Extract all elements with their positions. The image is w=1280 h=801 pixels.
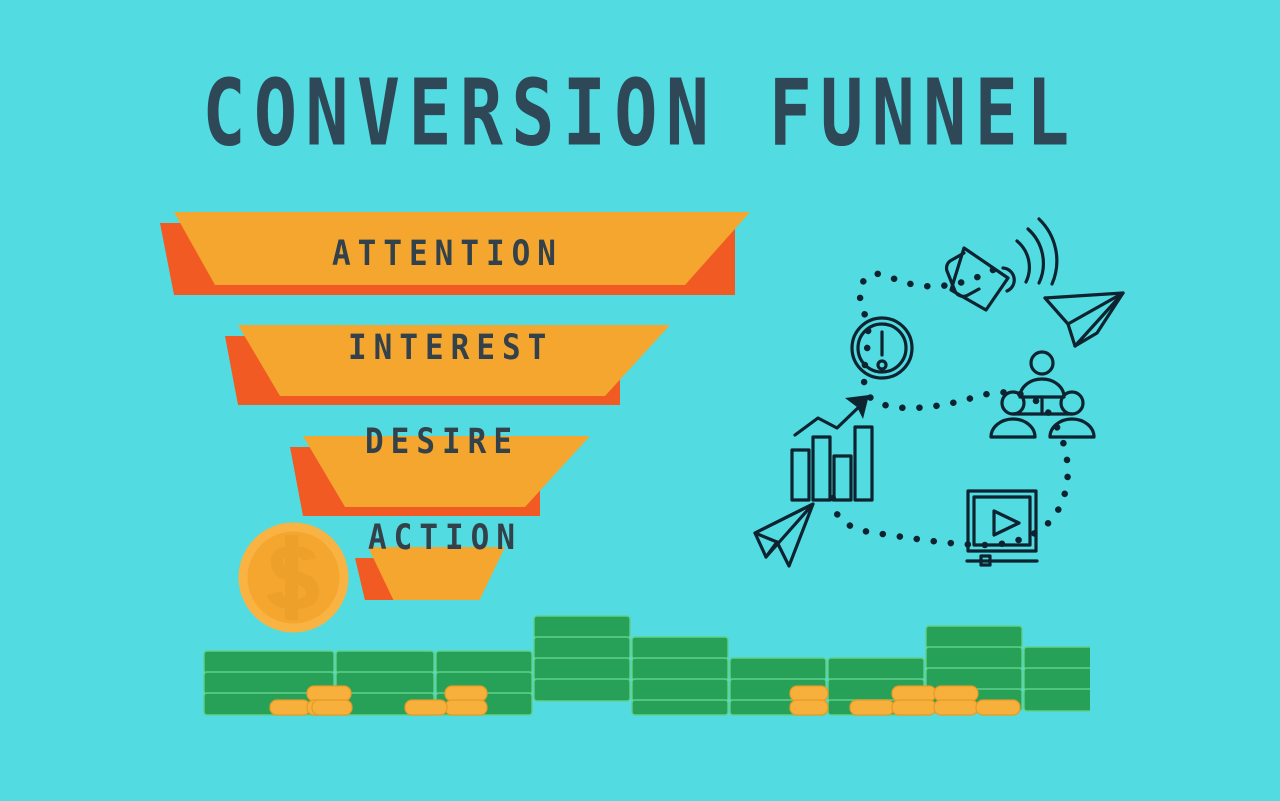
funnel-label-attention: ATTENTION bbox=[332, 234, 563, 274]
dotted-path bbox=[833, 270, 1068, 545]
video-player-icon bbox=[967, 491, 1037, 565]
megaphone-icon bbox=[947, 219, 1057, 310]
network-users-icon bbox=[991, 352, 1094, 437]
poster-canvas: CONVERSION FUNNEL ATTENTION INTEREST bbox=[0, 0, 1280, 801]
money-stacks bbox=[190, 608, 1090, 723]
funnel-label-action: ACTION bbox=[368, 518, 522, 558]
bar-chart-icon bbox=[792, 395, 872, 500]
page-title: CONVERSION FUNNEL bbox=[51, 68, 1229, 160]
marketing-icon-cluster bbox=[745, 215, 1145, 585]
paper-plane-2-icon bbox=[755, 504, 813, 566]
alert-circle-icon bbox=[852, 318, 912, 378]
paper-plane-icon bbox=[1045, 293, 1123, 346]
funnel-label-interest: INTEREST bbox=[348, 328, 553, 368]
funnel-label-desire: DESIRE bbox=[365, 422, 519, 462]
